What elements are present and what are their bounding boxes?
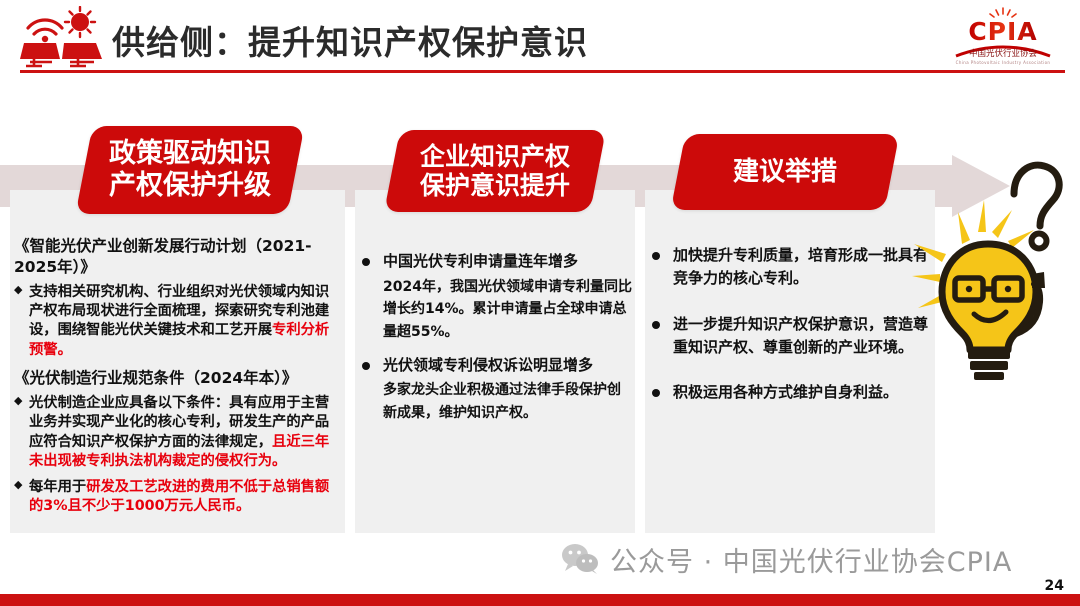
enterprise-bullet-2: 光伏领域专利侵权诉讼明显增多 <box>360 354 632 377</box>
wechat-footer: 公众号 · 中国光伏行业协会CPIA <box>560 540 1012 579</box>
solar-panel-wifi-sun-icon <box>18 6 106 68</box>
recommendation-bullet-3: 积极运用各种方式维护自身利益。 <box>650 381 932 404</box>
slide-root: 供给侧：提升知识产权保护意识 <box>0 0 1080 606</box>
bullet-heading: 加快提升专利质量，培育形成一批具有竞争力的核心专利。 <box>673 244 932 291</box>
column-2-body: 中国光伏专利申请量连年增多 2024年，我国光伏领域申请专利量同比增长约14%。… <box>360 250 632 434</box>
policy-bullet-3: 每年用于研发及工艺改进的费用不低于总销售额的3%且不少于1000万元人民币。 <box>14 478 342 517</box>
footer-accent-bar <box>0 594 1080 606</box>
policy-bullet-1: 支持相关研究机构、行业组织对光伏领域内知识产权布局现状进行全面梳理，探索研究专利… <box>14 283 342 361</box>
section-banner-enterprise: 企业知识产权 保护意识提升 <box>384 130 606 212</box>
bullet-detail: 2024年，我国光伏领域申请专利量同比增长约14%。累计申请量占全球申请总量超5… <box>383 276 632 344</box>
policy-bullet-2: 光伏制造企业应具备以下条件：具有应用于主营业务并实现产业化的核心专利，研发生产的… <box>14 394 342 472</box>
bullet-run: 每年用于 <box>29 479 86 495</box>
bullet-heading: 积极运用各种方式维护自身利益。 <box>673 381 932 404</box>
svg-text:CPIA: CPIA <box>968 17 1037 46</box>
bullet-detail: 多家龙头企业积极通过法律手段保护创新成果，维护知识产权。 <box>383 379 632 424</box>
banner-line: 企业知识产权 <box>392 142 598 172</box>
svg-text:China Photovoltaic Industry As: China Photovoltaic Industry Association <box>956 60 1051 65</box>
header-divider <box>20 70 1065 73</box>
section-banner-recommendations: 建议举措 <box>671 134 900 210</box>
page-number: 24 <box>1045 578 1064 594</box>
bullet-heading: 中国光伏专利申请量连年增多 <box>383 250 632 273</box>
column-1-body: 《智能光伏产业创新发展行动计划（2021-2025年）》 支持相关研究机构、行业… <box>14 236 342 523</box>
cpia-logo: CPIA 中国光伏行业协会 China Photovoltaic Industr… <box>940 6 1066 68</box>
wechat-icon <box>560 542 600 578</box>
slide-header: 供给侧：提升知识产权保护意识 <box>0 0 1080 76</box>
section-banner-enterprise-text: 企业知识产权 保护意识提升 <box>392 130 598 212</box>
banner-line: 政策驱动知识 <box>84 138 296 170</box>
enterprise-bullet-1: 中国光伏专利申请量连年增多 <box>360 250 632 273</box>
banner-line: 产权保护升级 <box>84 170 296 202</box>
section-banner-policy: 政策驱动知识 产权保护升级 <box>75 126 304 214</box>
svg-text:中国光伏行业协会: 中国光伏行业协会 <box>969 48 1038 59</box>
recommendation-bullet-2: 进一步提升知识产权保护意识，营造尊重知识产权、尊重创新的产业环境。 <box>650 313 932 360</box>
bullet-heading: 进一步提升知识产权保护意识，营造尊重知识产权、尊重创新的产业环境。 <box>673 313 932 360</box>
bullet-heading: 光伏领域专利侵权诉讼明显增多 <box>383 354 632 377</box>
wechat-account-label: 公众号 · 中国光伏行业协会CPIA <box>610 540 1012 579</box>
section-banner-recommendations-text: 建议举措 <box>678 134 892 210</box>
banner-line: 建议举措 <box>678 157 892 188</box>
document-title: 《光伏制造行业规范条件（2024年本）》 <box>14 368 342 389</box>
page-title: 供给侧：提升知识产权保护意识 <box>112 16 588 64</box>
document-title: 《智能光伏产业创新发展行动计划（2021-2025年）》 <box>14 236 342 278</box>
recommendation-bullet-1: 加快提升专利质量，培育形成一批具有竞争力的核心专利。 <box>650 244 932 291</box>
banner-line: 保护意识提升 <box>392 171 598 201</box>
column-3-body: 加快提升专利质量，培育形成一批具有竞争力的核心专利。 进一步提升知识产权保护意识… <box>650 244 932 426</box>
section-banner-policy-text: 政策驱动知识 产权保护升级 <box>84 126 296 214</box>
lightbulb-character-icon <box>912 148 1080 380</box>
